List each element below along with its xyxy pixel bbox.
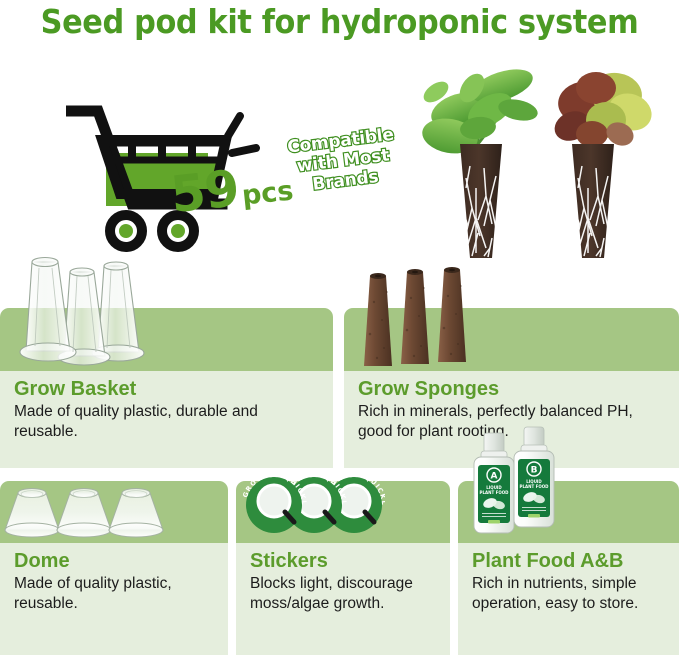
svg-text:GROW UP QUICKLY: GROW UP QUICKLY [240, 471, 385, 505]
panel-desc-grow-basket: Made of quality plastic, durable and reu… [14, 402, 325, 441]
panel-grow-basket-body: Grow Basket Made of quality plastic, dur… [0, 371, 333, 468]
panel-plant-food: B LIQUID PLANT FOOD A LIQUID PLANT FOOD [458, 481, 679, 655]
domes-graphic [2, 483, 165, 541]
quantity-number: 59 [168, 159, 241, 224]
svg-text:PLANT FOOD: PLANT FOOD [520, 484, 550, 489]
panel-grow-sponges-body: Grow Sponges Rich in minerals, perfectly… [344, 371, 679, 468]
panel-title-plant-food: Plant Food A&B [472, 549, 671, 573]
panel-dome: Dome Made of quality plastic, reusable. [0, 481, 228, 655]
panel-grow-basket-image-band [0, 308, 333, 371]
lettuce-plant [550, 70, 657, 258]
mint-plant [419, 63, 539, 258]
svg-text:LIQUID: LIQUID [486, 485, 502, 490]
seedlings-in-grow-sponges-image [406, 48, 666, 300]
svg-text:GROW UP QUICKLY: GROW UP QUICKLY [240, 471, 308, 505]
panel-desc-grow-sponges: Rich in minerals, perfectly balanced PH,… [358, 402, 671, 441]
svg-text:PLANT FOOD: PLANT FOOD [480, 490, 510, 495]
stickers-graphic: GROW UP QUICKLY GROW UP QUICKLY GROW UP … [240, 471, 385, 535]
shopping-cart-graphic: 59pcs [66, 98, 266, 253]
panel-title-grow-sponges: Grow Sponges [358, 377, 671, 401]
panel-grow-basket: Grow Basket Made of quality plastic, dur… [0, 308, 333, 468]
panel-stickers-body: Stickers Blocks light, discourage moss/a… [236, 543, 450, 655]
panel-title-grow-basket: Grow Basket [14, 377, 325, 401]
svg-text:GROW UP QUICKLY: GROW UP QUICKLY [240, 471, 348, 505]
hero-section: 59pcs Compatible with Most Brands [0, 0, 679, 305]
panel-title-stickers: Stickers [250, 549, 442, 573]
panel-dome-body: Dome Made of quality plastic, reusable. [0, 543, 228, 655]
panel-plant-food-image-band: B LIQUID PLANT FOOD A LIQUID PLANT FOOD [458, 481, 679, 543]
panel-desc-plant-food: Rich in nutrients, simple operation, eas… [472, 574, 671, 613]
panel-stickers-image-band: GROW UP QUICKLY GROW UP QUICKLY GROW UP … [236, 481, 450, 543]
svg-text:LIQUID: LIQUID [526, 479, 542, 484]
panel-title-dome: Dome [14, 549, 220, 573]
svg-text:A: A [491, 472, 498, 482]
panel-stickers: GROW UP QUICKLY GROW UP QUICKLY GROW UP … [236, 481, 450, 655]
panel-desc-dome: Made of quality plastic, reusable. [14, 574, 220, 613]
compatibility-badge: Compatible with Most Brands [275, 123, 411, 198]
panel-desc-stickers: Blocks light, discourage moss/algae grow… [250, 574, 442, 613]
panel-grow-sponges-image-band [344, 308, 679, 371]
panel-grow-sponges: Grow Sponges Rich in minerals, perfectly… [344, 308, 679, 468]
panel-dome-image-band [0, 481, 228, 543]
panel-plant-food-body: Plant Food A&B Rich in nutrients, simple… [458, 543, 679, 655]
quantity-badge: 59pcs [168, 154, 295, 224]
